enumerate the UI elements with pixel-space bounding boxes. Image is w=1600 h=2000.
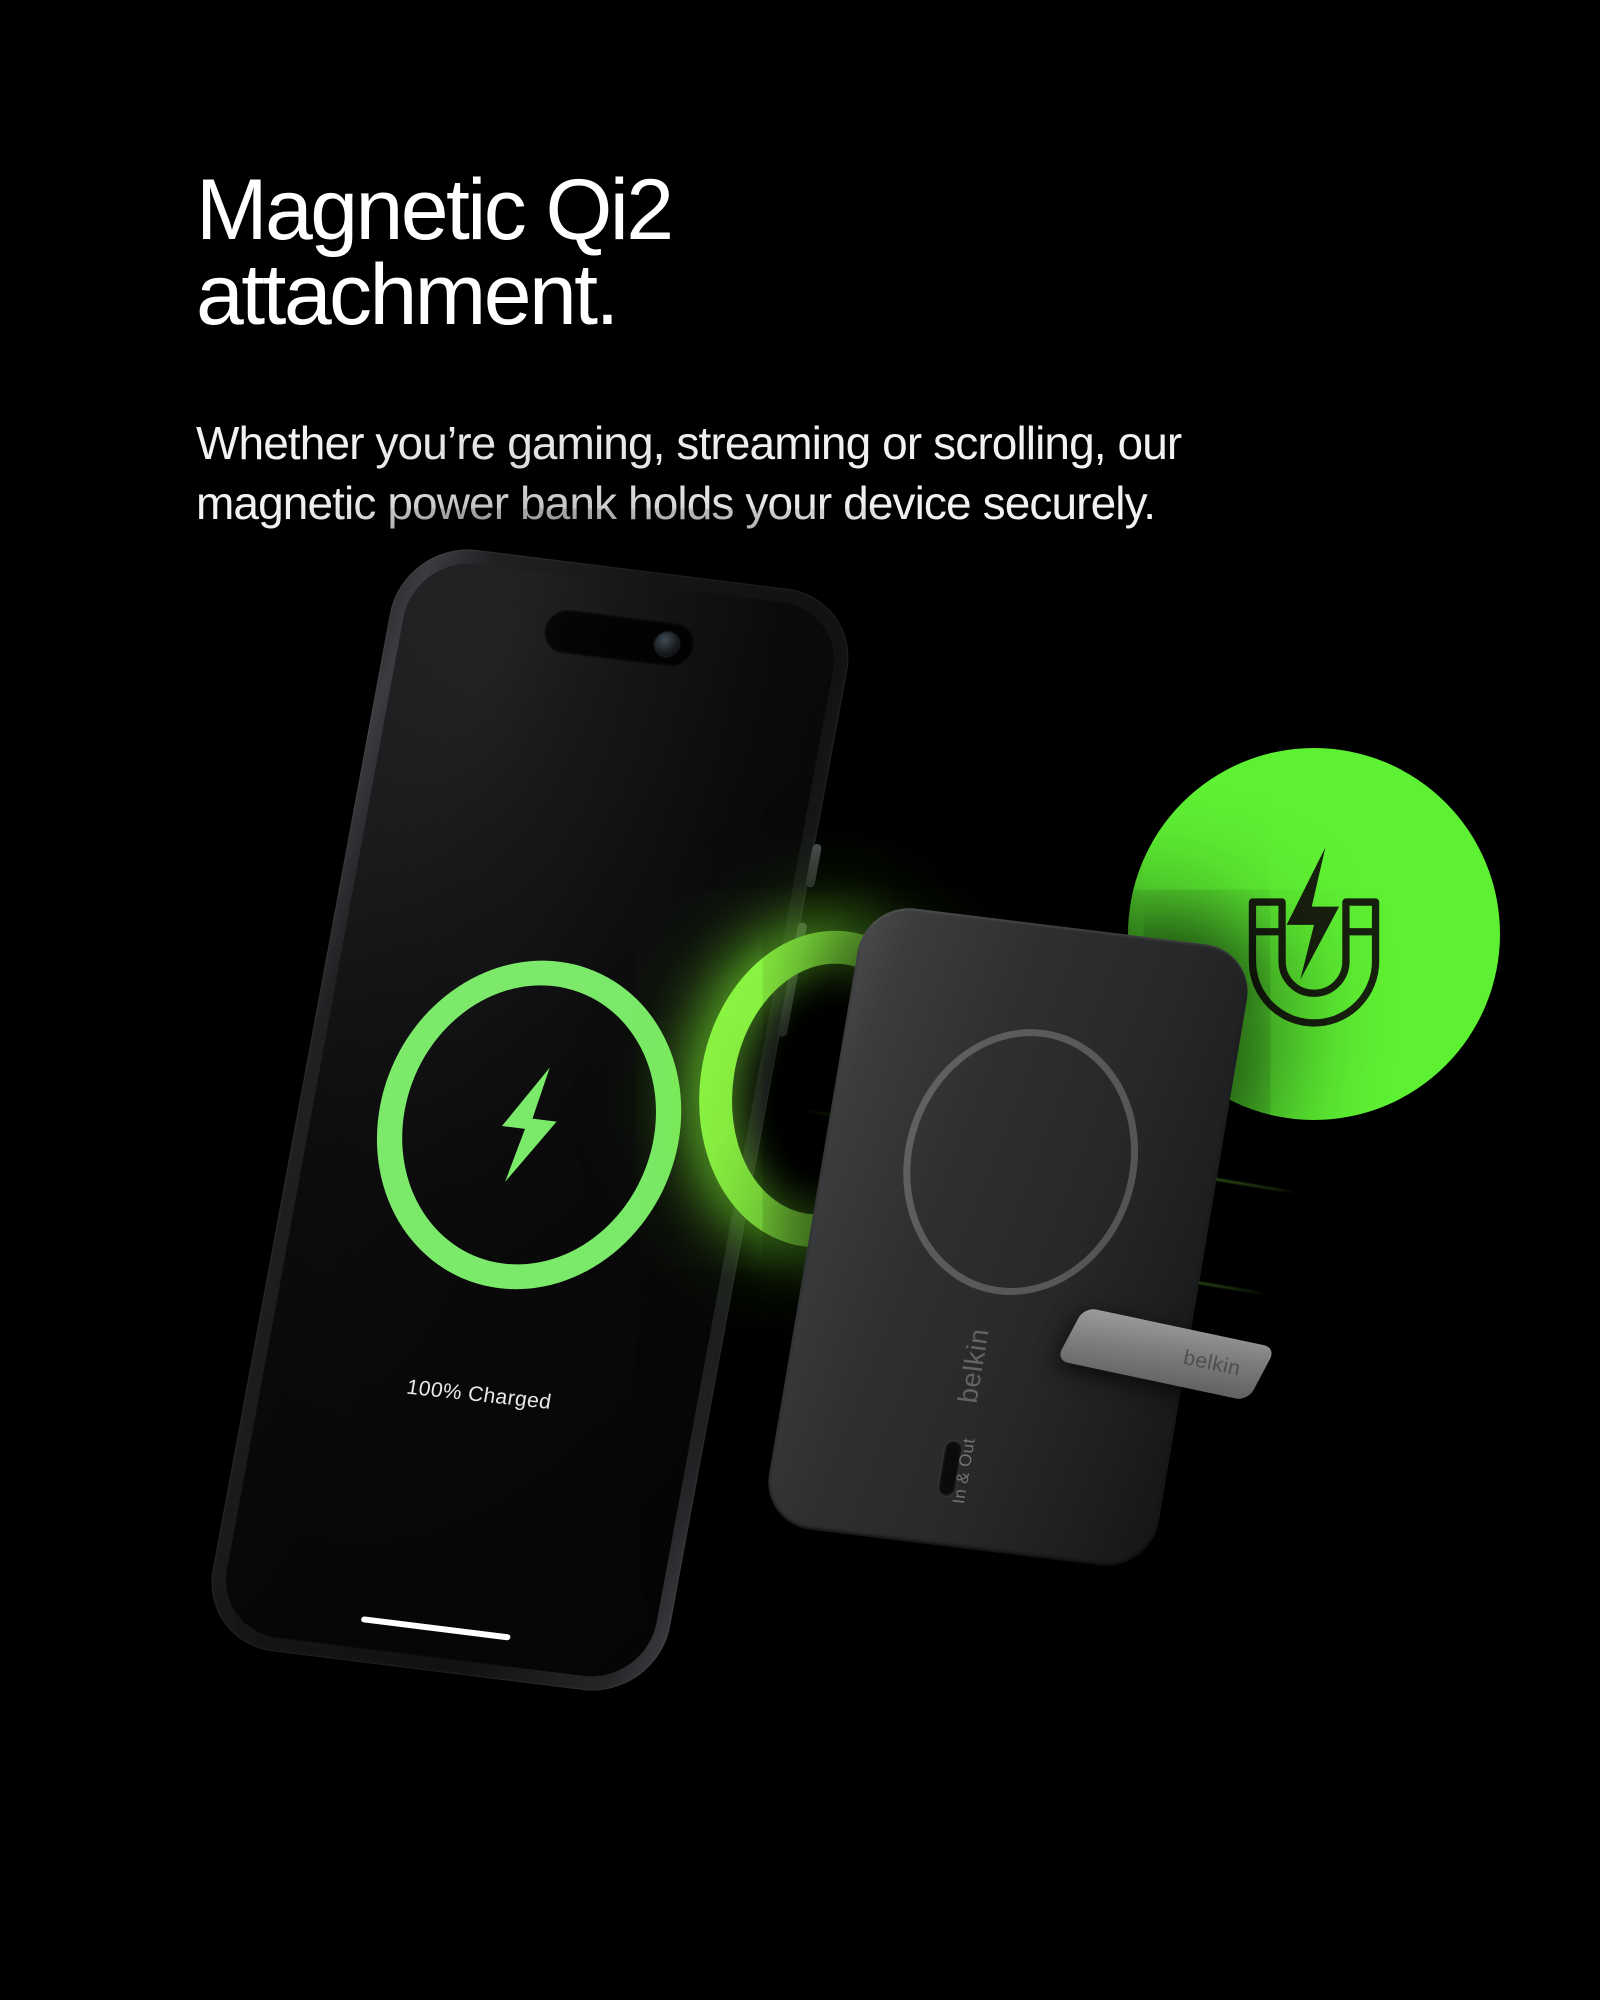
phone-action-button[interactable]	[805, 843, 822, 887]
product-stage: 100% Charged belkin In & Out belkin	[0, 700, 1600, 2000]
hero-copy-block: Magnetic Qi2 attachment. Whether you’re …	[196, 168, 1356, 533]
page-title: Magnetic Qi2 attachment.	[196, 168, 1356, 338]
belkin-logo: belkin	[953, 1327, 996, 1405]
kickstand-belkin-logo: belkin	[1181, 1346, 1243, 1382]
hero-description: Whether you’re gaming, streaming or scro…	[196, 414, 1326, 533]
magsafe-alignment-circle	[883, 1016, 1158, 1309]
